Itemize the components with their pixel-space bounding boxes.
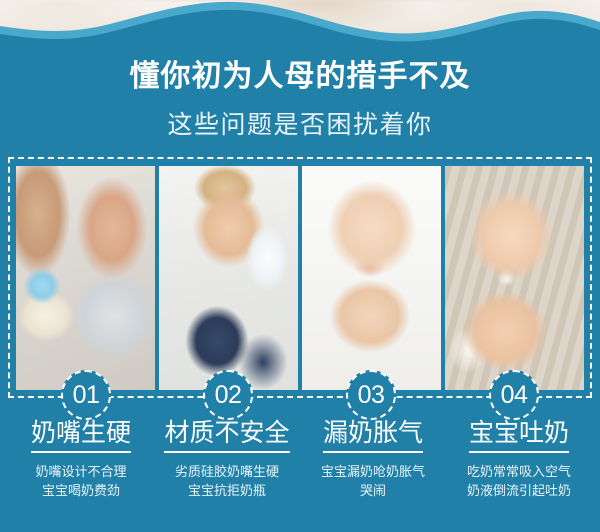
promo-banner: 懂你初为人母的措手不及 这些问题是否困扰着你 01 02 03 04 奶嘴生硬 …	[0, 0, 600, 532]
card-desc-2: 劣质硅胶奶嘴生硬 宝宝抗拒奶瓶	[154, 462, 300, 500]
card-4: 宝宝吐奶 吃奶常常吸入空气 奶液倒流引起吐奶	[446, 417, 592, 500]
card-3: 漏奶胀气 宝宝漏奶呛奶胀气 哭闹	[300, 417, 446, 500]
card-photo-3	[302, 166, 441, 390]
card-desc-3-line1: 宝宝漏奶呛奶胀气	[300, 462, 446, 481]
card-photo-1	[16, 166, 155, 390]
card-title-4: 宝宝吐奶	[469, 417, 569, 453]
number-badge-3: 03	[346, 370, 396, 420]
card-title-3: 漏奶胀气	[323, 417, 423, 453]
wave-header	[0, 0, 600, 48]
card-desc-4: 吃奶常常吸入空气 奶液倒流引起吐奶	[446, 462, 592, 500]
number-badge-2: 02	[203, 370, 253, 420]
card-2: 材质不安全 劣质硅胶奶嘴生硬 宝宝抗拒奶瓶	[154, 417, 300, 500]
number-badge-4: 04	[489, 370, 539, 420]
card-desc-2-line2: 宝宝抗拒奶瓶	[154, 481, 300, 500]
card-desc-4-line2: 奶液倒流引起吐奶	[446, 481, 592, 500]
card-1: 奶嘴生硬 奶嘴设计不合理 宝宝喝奶费劲	[8, 417, 154, 500]
card-desc-1-line2: 宝宝喝奶费劲	[8, 481, 154, 500]
card-desc-1-line1: 奶嘴设计不合理	[8, 462, 154, 481]
card-photo-4	[445, 166, 584, 390]
card-text-row: 奶嘴生硬 奶嘴设计不合理 宝宝喝奶费劲 材质不安全 劣质硅胶奶嘴生硬 宝宝抗拒奶…	[8, 417, 592, 500]
wave-divider-icon	[0, 0, 600, 48]
page-subtitle: 这些问题是否困扰着你	[0, 108, 600, 142]
page-title: 懂你初为人母的措手不及	[0, 57, 600, 97]
number-badge-1: 01	[61, 370, 111, 420]
card-desc-4-line1: 吃奶常常吸入空气	[446, 462, 592, 481]
card-photo-2	[159, 166, 298, 390]
card-desc-2-line1: 劣质硅胶奶嘴生硬	[154, 462, 300, 481]
card-title-2: 材质不安全	[164, 417, 289, 453]
card-desc-3: 宝宝漏奶呛奶胀气 哭闹	[300, 462, 446, 500]
card-desc-1: 奶嘴设计不合理 宝宝喝奶费劲	[8, 462, 154, 500]
card-desc-3-line2: 哭闹	[300, 481, 446, 500]
photo-grid	[16, 166, 584, 390]
card-title-1: 奶嘴生硬	[31, 417, 131, 453]
